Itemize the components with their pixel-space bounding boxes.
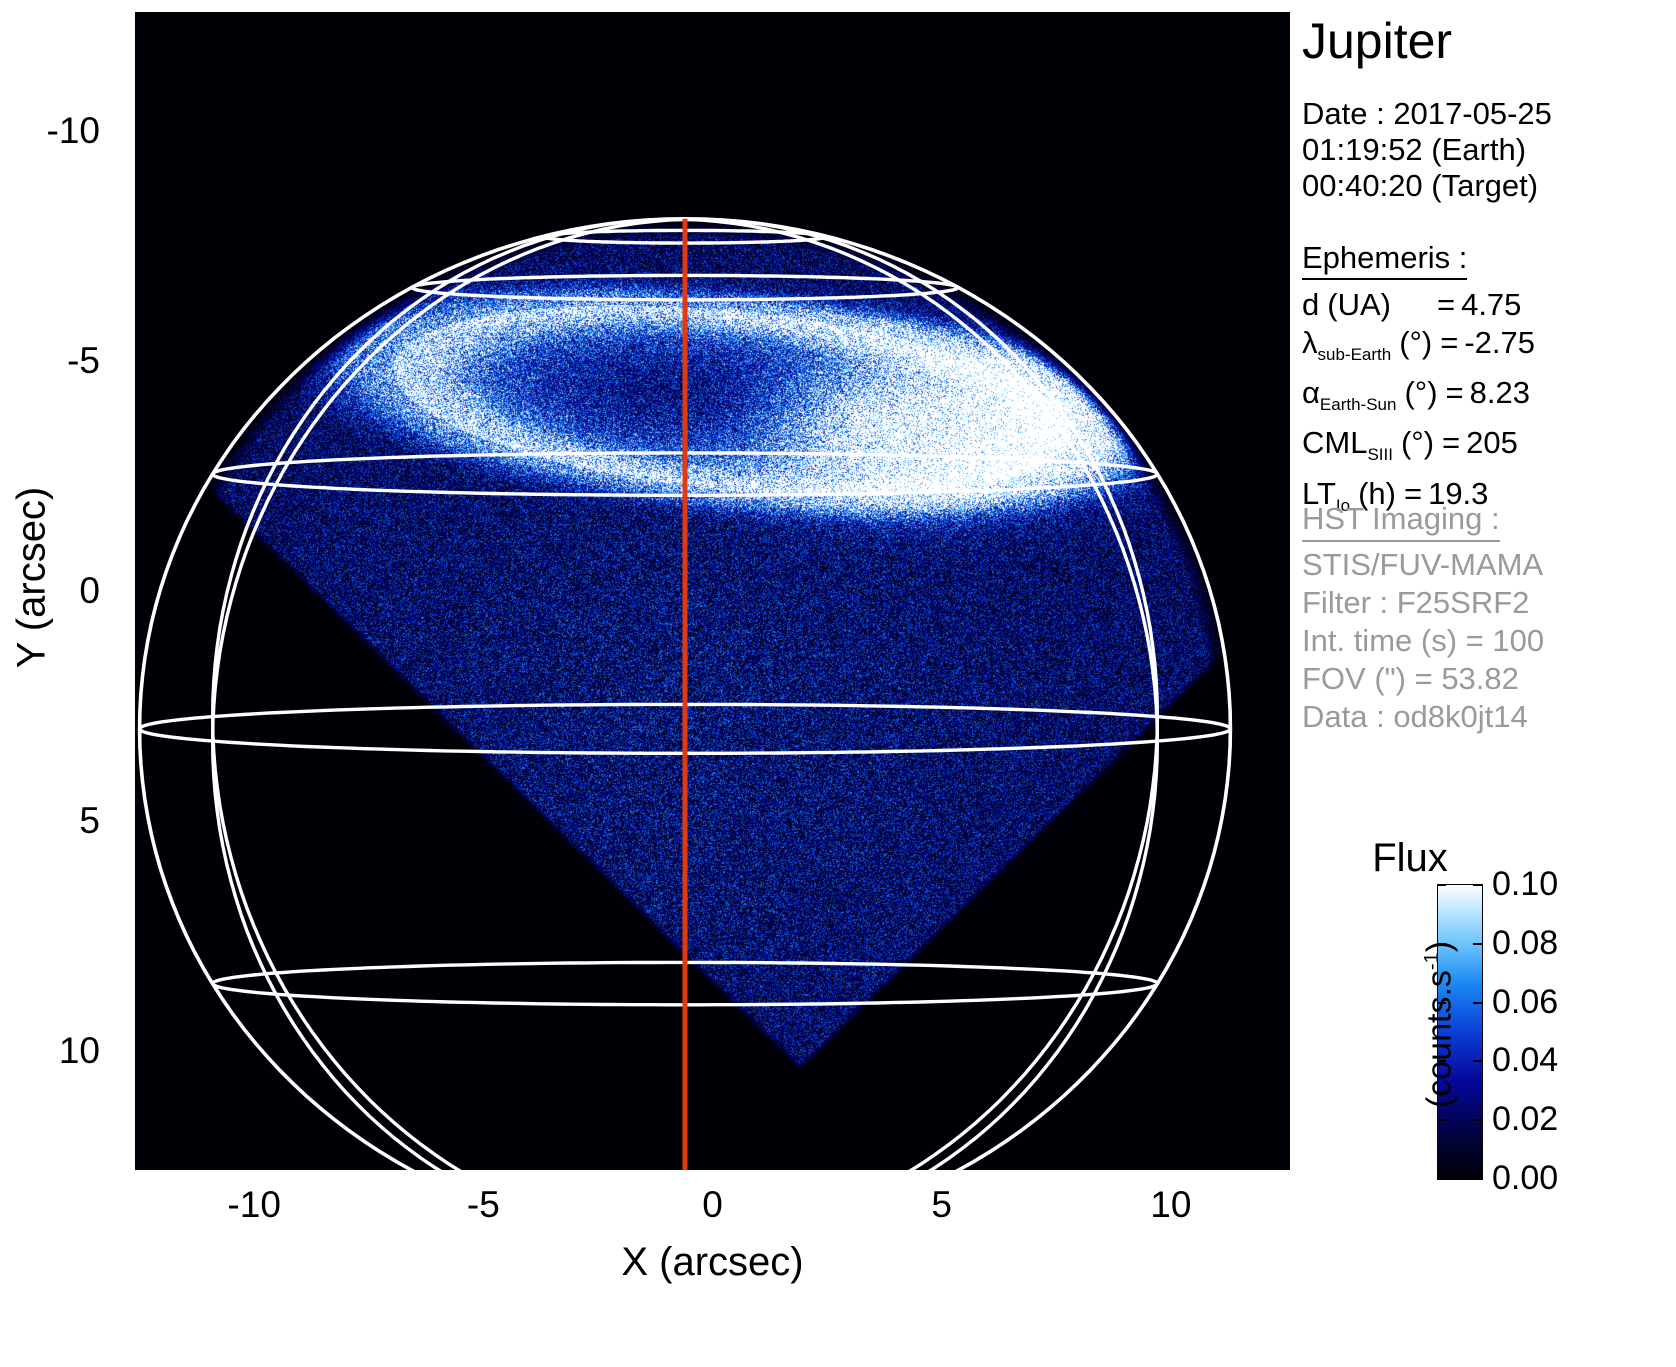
ephemeris-block: Ephemeris : d(UA)=4.75λsub-Earth(°)=-2.7…: [1302, 240, 1535, 524]
colorbar-tick-mark: [1473, 943, 1482, 945]
x-axis-label: X (arcsec): [135, 1240, 1290, 1285]
observation-time-target: 00:40:20 (Target): [1302, 168, 1552, 204]
colorbar-tick-mark: [1473, 1119, 1482, 1121]
colorbar-tick-label: 0.04: [1492, 1043, 1558, 1077]
colorbar-units-exponent: -1: [1421, 952, 1443, 970]
hst-integration-time: Int. time (s) = 100: [1302, 622, 1544, 660]
ephemeris-row: CMLSIII(°)=205: [1302, 425, 1535, 473]
observation-date-block: Date : 2017-05-25 01:19:52 (Earth) 00:40…: [1302, 96, 1552, 204]
sky-image-plot: [135, 12, 1290, 1170]
graticule-line: [685, 219, 1157, 1170]
ephemeris-symbol: d: [1302, 287, 1319, 323]
graticule-line: [213, 219, 685, 1170]
ephemeris-unit: (°): [1404, 375, 1437, 411]
colorbar-tick-mark: [1473, 1060, 1482, 1062]
ephemeris-value: 8.23: [1470, 375, 1530, 411]
ephemeris-unit: (UA): [1327, 287, 1391, 323]
y-tick-label: 5: [79, 802, 100, 839]
ephemeris-subscript: sub-Earth: [1318, 345, 1392, 364]
y-tick-label: 0: [79, 572, 100, 609]
colorbar-tick-mark: [1437, 1178, 1446, 1180]
ephemeris-symbol: λsub-Earth: [1302, 325, 1391, 373]
ephemeris-value: -2.75: [1464, 325, 1535, 361]
colorbar-tick-mark: [1473, 1002, 1482, 1004]
coordinate-grid-overlay: [135, 12, 1290, 1170]
hst-fov: FOV (") = 53.82: [1302, 660, 1544, 698]
ephemeris-equals: =: [1440, 325, 1458, 361]
hst-imaging-block: HST Imaging : STIS/FUV-MAMA Filter : F25…: [1302, 500, 1544, 736]
x-tick-label: 10: [1150, 1185, 1191, 1225]
graticule-line: [213, 219, 685, 1170]
x-axis-ticks: -10-50510: [0, 1185, 1290, 1245]
colorbar-tick-label: 0.10: [1492, 867, 1558, 901]
colorbar-tick-label: 0.06: [1492, 985, 1558, 1019]
ephemeris-value: 4.75: [1461, 287, 1521, 323]
ephemeris-equals: =: [1437, 287, 1455, 323]
colorbar-tick-mark: [1473, 884, 1482, 886]
observation-date: Date : 2017-05-25: [1302, 96, 1552, 132]
y-tick-label: 10: [59, 1032, 100, 1069]
ephemeris-symbol: αEarth-Sun: [1302, 375, 1396, 423]
hst-imaging-header: HST Imaging :: [1302, 500, 1500, 542]
page-title: Jupiter: [1302, 14, 1452, 68]
hst-dataset-id: Data : od8k0jt14: [1302, 698, 1544, 736]
colorbar-tick-label: 0.00: [1492, 1161, 1558, 1195]
ephemeris-equals: =: [1446, 375, 1464, 411]
info-panel: Jupiter Date : 2017-05-25 01:19:52 (Eart…: [1300, 0, 1676, 1367]
observation-time-earth: 01:19:52 (Earth): [1302, 132, 1552, 168]
x-tick-label: -10: [227, 1185, 280, 1225]
y-tick-label: -5: [67, 342, 100, 379]
colorbar-units-suffix: ): [1421, 941, 1459, 952]
x-tick-label: 0: [702, 1185, 723, 1225]
x-tick-label: 5: [931, 1185, 952, 1225]
ephemeris-equals: =: [1442, 425, 1460, 461]
colorbar-axis-label: (counts.s-1): [1421, 875, 1460, 1175]
ephemeris-symbol: CMLSIII: [1302, 425, 1393, 473]
ephemeris-header: Ephemeris :: [1302, 240, 1467, 280]
graticule-line: [685, 219, 1157, 1170]
y-axis-label: Y (arcsec): [10, 428, 55, 728]
ephemeris-row: d(UA)=4.75: [1302, 287, 1535, 323]
ephemeris-row: λsub-Earth(°)=-2.75: [1302, 325, 1535, 373]
ephemeris-row: αEarth-Sun(°)=8.23: [1302, 375, 1535, 423]
ephemeris-rows: d(UA)=4.75λsub-Earth(°)=-2.75αEarth-Sun(…: [1302, 287, 1535, 524]
hst-filter: Filter : F25SRF2: [1302, 584, 1544, 622]
colorbar-units-prefix: (counts.s: [1421, 970, 1459, 1108]
y-tick-label: -10: [47, 112, 100, 149]
ephemeris-subscript: Earth-Sun: [1320, 395, 1397, 414]
x-tick-label: -5: [467, 1185, 500, 1225]
colorbar-tick-mark: [1473, 1178, 1482, 1180]
hst-instrument: STIS/FUV-MAMA: [1302, 546, 1544, 584]
ephemeris-value: 205: [1466, 425, 1518, 461]
ephemeris-unit: (°): [1401, 425, 1434, 461]
colorbar-title: Flux: [1335, 836, 1485, 881]
colorbar-tick-label: 0.08: [1492, 926, 1558, 960]
ephemeris-subscript: SIII: [1367, 446, 1393, 465]
colorbar-tick-label: 0.02: [1492, 1102, 1558, 1136]
ephemeris-unit: (°): [1399, 325, 1432, 361]
